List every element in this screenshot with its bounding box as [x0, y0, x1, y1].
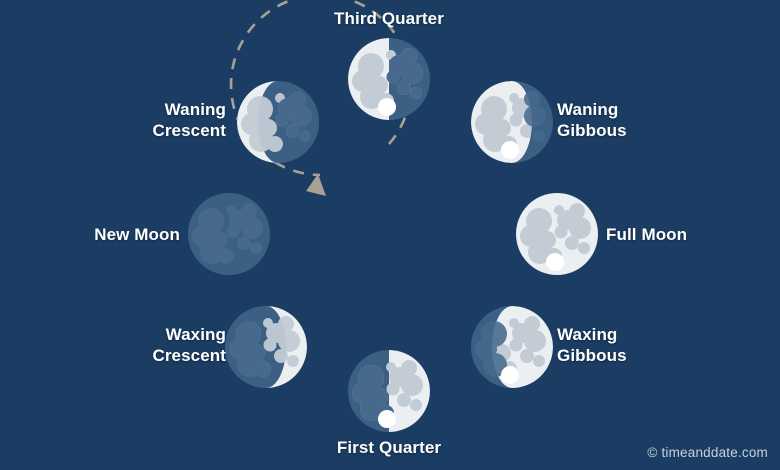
moon-full-moon: [516, 193, 598, 275]
moon-waning-crescent: [237, 81, 319, 163]
moon-waning-gibbous: [471, 81, 553, 163]
moon-phase-diagram: Third Quarter Waning Gibbous Full Moon W…: [0, 0, 780, 470]
moon-first-quarter: [348, 350, 430, 432]
moon-waxing-crescent: [225, 306, 307, 388]
credit-text: © timeanddate.com: [647, 445, 768, 460]
cycle-direction-arrowhead: [306, 174, 326, 196]
diagram-canvas: [0, 0, 780, 470]
moon-waxing-gibbous: [471, 306, 553, 388]
moon-third-quarter: [348, 38, 430, 120]
moon-new-moon: [188, 193, 270, 275]
